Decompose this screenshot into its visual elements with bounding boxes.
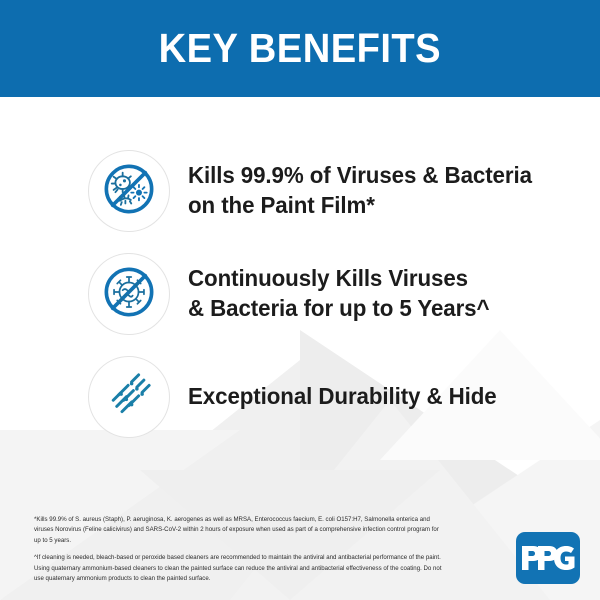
benefit-text: Continuously Kills Viruses & Bacteria fo… bbox=[188, 264, 489, 324]
benefit-icon-circle bbox=[88, 356, 170, 438]
ppg-logo-mark bbox=[520, 543, 576, 573]
benefit-item: Exceptional Durability & Hide bbox=[0, 356, 600, 438]
benefit-line-2: on the Paint Film* bbox=[188, 191, 532, 221]
benefit-line-1: Continuously Kills Viruses bbox=[188, 264, 489, 294]
footnote-kills-claim: *Kills 99.9% of S. aureus (Staph), P. ae… bbox=[34, 515, 444, 546]
key-benefits-poster: KEY BENEFITS bbox=[0, 0, 600, 600]
no-germs-icon bbox=[100, 160, 158, 223]
footnotes: *Kills 99.9% of S. aureus (Staph), P. ae… bbox=[34, 515, 444, 585]
benefit-item: Continuously Kills Viruses & Bacteria fo… bbox=[0, 253, 600, 335]
no-virus-icon bbox=[100, 263, 158, 326]
ppg-logo bbox=[516, 532, 580, 584]
benefits-list: Kills 99.9% of Viruses & Bacteria on the… bbox=[0, 150, 600, 438]
brush-strokes-icon bbox=[101, 367, 157, 428]
benefit-line-2: & Bacteria for up to 5 Years^ bbox=[188, 294, 489, 324]
benefit-text: Exceptional Durability & Hide bbox=[188, 382, 497, 412]
benefit-icon-circle bbox=[88, 150, 170, 232]
benefit-icon-circle bbox=[88, 253, 170, 335]
benefit-line-1: Kills 99.9% of Viruses & Bacteria bbox=[188, 161, 532, 191]
benefit-line-1: Exceptional Durability & Hide bbox=[188, 382, 497, 412]
header-banner: KEY BENEFITS bbox=[0, 0, 600, 97]
footnote-cleaning-claim: ^If cleaning is needed, bleach-based or … bbox=[34, 553, 444, 584]
benefit-item: Kills 99.9% of Viruses & Bacteria on the… bbox=[0, 150, 600, 232]
page-title: KEY BENEFITS bbox=[159, 28, 441, 69]
benefit-text: Kills 99.9% of Viruses & Bacteria on the… bbox=[188, 161, 532, 221]
